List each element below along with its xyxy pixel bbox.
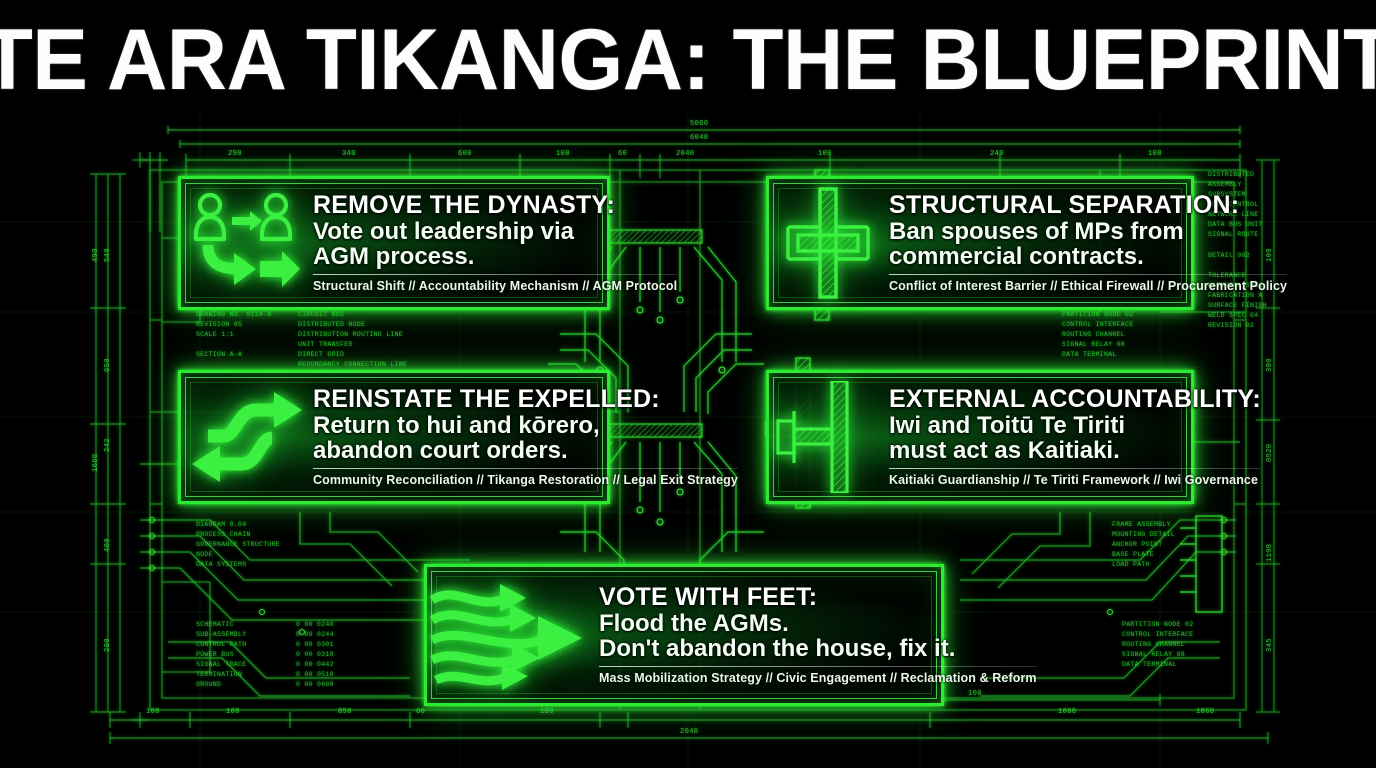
dim-top-outer: 5060	[690, 120, 708, 128]
dim-bot-t3: 850	[338, 708, 352, 716]
panel-2-line-1: Ban spouses of MPs from	[889, 219, 1287, 244]
panel-2-divider	[889, 274, 1287, 275]
dim-left-v4: 1660	[92, 454, 100, 472]
dim-top-t2: 340	[342, 150, 356, 158]
blueprint-infographic: TE ARA TIKANGA: THE BLUEPRINT	[0, 0, 1376, 768]
dim-right-v4: 1100	[1266, 544, 1274, 562]
panel-5-body: VOTE WITH FEET: Flood the AGMs. Don't ab…	[595, 585, 1051, 685]
panel-external-accountability[interactable]: EXTERNAL ACCOUNTABILITY: Iwi and Toitū T…	[766, 370, 1194, 504]
wall-junction-icon	[769, 378, 887, 496]
dim-left-v1: 490	[92, 248, 100, 262]
panel-1-line-2: AGM process.	[313, 244, 677, 269]
panel-3-divider	[313, 468, 738, 469]
panel-4-line-1: Iwi and Toitū Te Tiriti	[889, 413, 1261, 438]
panel-1-body: REMOVE THE DYNASTY: Vote out leadership …	[313, 193, 691, 293]
dim-top-t3: 600	[458, 150, 472, 158]
panel-1-tags: Structural Shift // Accountability Mecha…	[313, 279, 677, 293]
dim-right-v5: 345	[1266, 638, 1274, 652]
dim-bot-inner: 1060	[1196, 708, 1214, 716]
two-people-swap-arrows-icon	[181, 188, 313, 298]
panel-5-line-2: Don't abandon the house, fix it.	[599, 636, 1037, 661]
dim-top-t4: 100	[556, 150, 570, 158]
panel-3-body: REINSTATE THE EXPELLED: Return to hui an…	[313, 387, 752, 487]
blueprint-canvas: 5060 6040 290 340 600 100 60 2040 100 24…	[0, 112, 1376, 768]
dim-bot-t2: 100	[226, 708, 240, 716]
panel-5-line-1: Flood the AGMs.	[599, 611, 1037, 636]
page-title-bar: TE ARA TIKANGA: THE BLUEPRINT	[0, 8, 1376, 113]
dim-top-r3: 100	[1148, 150, 1162, 158]
panel-4-line-2: must act as Kaitiaki.	[889, 438, 1261, 463]
panel-2-body: STRUCTURAL SEPARATION: Ban spouses of MP…	[887, 193, 1301, 293]
dim-bot-r2: 1060	[1058, 708, 1076, 716]
s-curve-return-arrows-icon	[181, 382, 313, 492]
dim-left-v5: 242	[104, 438, 112, 452]
dim-left-v6: 400	[104, 538, 112, 552]
dim-top-second: 6040	[690, 134, 708, 142]
dim-left-v7: 200	[104, 638, 112, 652]
panel-5-divider	[599, 666, 1037, 667]
dim-left-v2: 540	[104, 248, 112, 262]
dim-top-r2: 240	[990, 150, 1004, 158]
page-title: TE ARA TIKANGA: THE BLUEPRINT	[0, 20, 1376, 102]
panel-5-tags: Mass Mobilization Strategy // Civic Enga…	[599, 671, 1037, 685]
dim-bot-t4: 60	[416, 708, 425, 716]
panel-4-tags: Kaitiaki Guardianship // Te Tiriti Frame…	[889, 473, 1261, 487]
h-wall-firewall-icon	[769, 184, 887, 302]
panel-3-line-1: Return to hui and kōrero,	[313, 413, 738, 438]
panel-1-divider	[313, 274, 677, 275]
panel-2-tags: Conflict of Interest Barrier // Ethical …	[889, 279, 1287, 293]
panel-structural-separation[interactable]: STRUCTURAL SEPARATION: Ban spouses of MP…	[766, 176, 1194, 310]
dim-top-t5: 60	[618, 150, 627, 158]
dim-bot-outer: 2040	[680, 728, 698, 736]
dim-bot-t5: 100	[540, 708, 554, 716]
flowing-arrows-icon	[427, 573, 595, 697]
dim-right-v2: 300	[1266, 358, 1274, 372]
panel-3-line-2: abandon court orders.	[313, 438, 738, 463]
panel-3-tags: Community Reconciliation // Tikanga Rest…	[313, 473, 738, 487]
dim-bot-r1: 100	[968, 690, 982, 698]
panel-1-heading: REMOVE THE DYNASTY:	[313, 193, 677, 219]
dim-left-v3: 650	[104, 358, 112, 372]
panel-2-line-2: commercial contracts.	[889, 244, 1287, 269]
panel-4-heading: EXTERNAL ACCOUNTABILITY:	[889, 387, 1261, 413]
panel-3-heading: REINSTATE THE EXPELLED:	[313, 387, 738, 413]
panel-4-body: EXTERNAL ACCOUNTABILITY: Iwi and Toitū T…	[887, 387, 1275, 487]
panel-2-heading: STRUCTURAL SEPARATION:	[889, 193, 1287, 219]
panel-vote-with-feet[interactable]: VOTE WITH FEET: Flood the AGMs. Don't ab…	[424, 564, 944, 706]
panel-1-line-1: Vote out leadership via	[313, 219, 677, 244]
dim-top-t6: 2040	[676, 150, 694, 158]
panel-4-divider	[889, 468, 1261, 469]
dim-top-r1: 100	[818, 150, 832, 158]
panel-5-heading: VOTE WITH FEET:	[599, 585, 1037, 611]
dim-top-t1: 290	[228, 150, 242, 158]
panel-reinstate-the-expelled[interactable]: REINSTATE THE EXPELLED: Return to hui an…	[178, 370, 610, 504]
dim-bot-t1: 100	[146, 708, 160, 716]
panel-remove-the-dynasty[interactable]: REMOVE THE DYNASTY: Vote out leadership …	[178, 176, 610, 310]
